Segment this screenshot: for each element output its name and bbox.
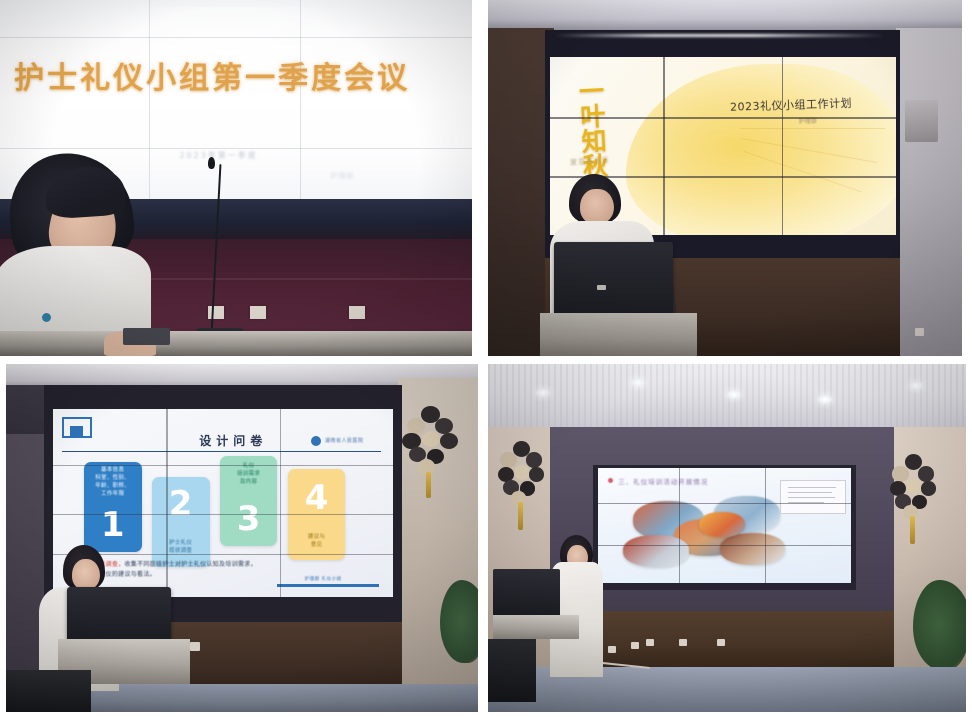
scene-questionnaire-slide: 设计问卷 湖南省人民医院 基本信息科室、性别、年龄、职称、工作年限 1 2 护士… — [6, 364, 478, 712]
wall-outlet — [646, 639, 654, 646]
questionnaire-card: 礼仪培训需求及内容 3 — [220, 456, 278, 546]
scene-meeting-closeup: 护士礼仪小组第一季度会议 2023年第一季度 护理部 — [0, 0, 472, 356]
video-wall-seam — [166, 409, 167, 597]
photo-bottom-right: 三、礼仪培训活动开展情况 — [488, 364, 966, 712]
video-wall-seam — [53, 514, 393, 515]
photo-thumbnail — [720, 533, 786, 565]
lectern — [493, 615, 579, 639]
video-wall-seam — [679, 468, 680, 583]
slide-divider — [62, 451, 381, 453]
person-face — [580, 189, 613, 225]
card-number: 2 — [152, 484, 210, 524]
potted-plant — [440, 580, 478, 664]
wall-control-panel — [905, 100, 938, 143]
hospital-name: 湖南省人民医院 — [325, 437, 386, 444]
screen-seam — [149, 0, 150, 221]
conference-desk — [0, 331, 472, 356]
potted-plant — [913, 580, 966, 670]
card-caption: 礼仪培训需求及内容 — [220, 463, 278, 487]
screen-seam — [300, 0, 301, 221]
slide-footer-bar — [277, 584, 379, 587]
person-face — [72, 559, 100, 590]
slide-title: 护士礼仪小组第一季度会议 — [14, 53, 458, 97]
card-caption: 基本信息科室、性别、年龄、职称、工作年限 — [84, 467, 142, 499]
slide-bullet-dot — [608, 478, 613, 483]
wall-right — [896, 28, 962, 356]
scene-video-wall-presentation: 一 叶 知 秋 厦意谷志臣 2023礼仪小组工作计划 护理部 — [488, 0, 962, 356]
wall-outlet — [679, 639, 687, 646]
photo-collage: 护士礼仪小组第一季度会议 2023年第一季度 护理部 — [0, 0, 972, 717]
podium-monitor — [493, 569, 560, 618]
microphone-head — [208, 157, 215, 169]
wall-outlet — [349, 306, 365, 319]
ceiling-texture — [488, 364, 966, 430]
wall-outlet — [190, 642, 200, 651]
ceiling — [488, 0, 962, 32]
ceiling-light-strip — [554, 34, 886, 37]
questionnaire-card: 基本信息科室、性别、年龄、职称、工作年限 1 — [84, 462, 142, 552]
podium-monitor — [554, 242, 673, 317]
card-number: 1 — [84, 505, 142, 545]
photo-thumbnail — [699, 512, 745, 537]
video-wall-screen: 三、礼仪培训活动开展情况 — [598, 468, 851, 583]
video-wall-seam — [782, 57, 784, 235]
slide-title: 三、礼仪培训活动开展情况 — [618, 476, 795, 486]
balloon-cluster-right — [890, 454, 938, 524]
photo-bottom-left: 设计问卷 湖南省人民医院 基本信息科室、性别、年龄、职称、工作年限 1 2 护士… — [6, 364, 478, 712]
slide-title: 设计问卷 — [176, 432, 292, 449]
video-wall-seam — [598, 545, 851, 546]
wall-outlet — [250, 306, 266, 319]
slide-document-box — [780, 480, 845, 514]
monitor-logo — [597, 285, 606, 290]
photo-top-left: 护士礼仪小组第一季度会议 2023年第一季度 护理部 — [0, 0, 472, 356]
video-wall-seam — [663, 57, 665, 235]
equipment-case — [488, 639, 536, 702]
wall-outlet — [717, 639, 725, 646]
balloon-tassel — [910, 516, 915, 544]
video-wall-seam — [280, 409, 281, 597]
slide-footer-label: 护理部 礼仪小组 — [305, 576, 387, 582]
equipment-case — [6, 670, 91, 712]
card-number: 3 — [220, 499, 278, 539]
footnote-rest: 收集不同层级护士对护士礼仪认知及培训需求， — [124, 561, 256, 568]
video-wall-seam — [598, 503, 851, 504]
photo-top-right: 一 叶 知 秋 厦意谷志臣 2023礼仪小组工作计划 护理部 — [488, 0, 962, 356]
video-wall-seam — [550, 117, 896, 119]
video-wall-seam — [53, 465, 393, 466]
screen-seam — [0, 37, 472, 38]
video-wall-seam — [765, 468, 766, 583]
card-number: 4 — [288, 478, 346, 518]
hospital-logo-icon — [311, 436, 321, 446]
slide-logo-fill — [70, 426, 83, 436]
slide-subtitle-secondary: 护理部 — [330, 171, 453, 181]
balloon-tassel — [426, 472, 431, 498]
scene-conference-hall-wide: 三、礼仪培训活动开展情况 — [488, 364, 966, 712]
lectern — [540, 313, 696, 356]
balloon-cluster-left — [498, 441, 546, 511]
wall-outlet — [608, 646, 616, 653]
leaf-vein — [740, 128, 885, 129]
video-wall-seam — [53, 554, 393, 555]
wall-outlet — [631, 642, 639, 649]
mobile-phone — [123, 328, 170, 346]
balloon-tassel — [518, 502, 523, 530]
card-caption: 建议与意见 — [288, 534, 346, 550]
wall-outlet — [208, 306, 224, 319]
balloon-cluster-right — [402, 406, 459, 483]
wall-outlet — [915, 328, 924, 336]
